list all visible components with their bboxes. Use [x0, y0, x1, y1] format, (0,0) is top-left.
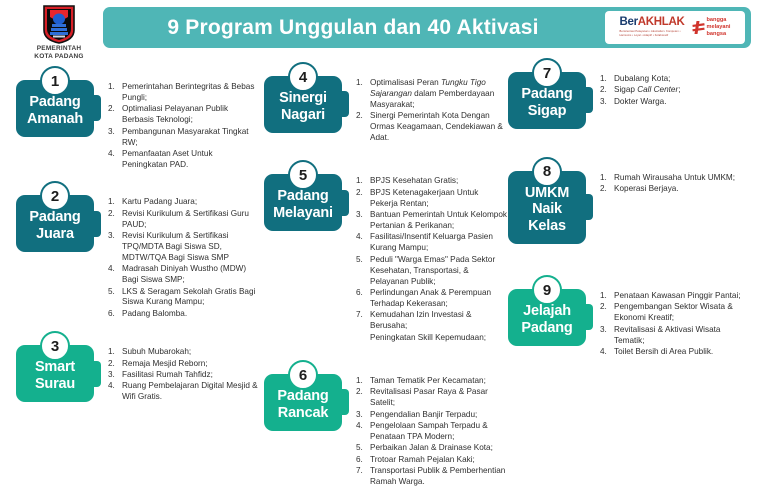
activation-item-text: Madrasah Diniyah Wustho (MDW) Bagi Siswa… — [122, 264, 259, 286]
activation-item-number: 6. — [356, 288, 370, 310]
program-number-badge: 6 — [288, 360, 318, 390]
activation-item-number: 1. — [108, 347, 122, 358]
program-card-title: SinergiNagari — [279, 90, 327, 124]
activation-item-text: Revisi Kurikulum & Sertifikasi Guru PAUD… — [122, 209, 259, 231]
activation-item-number: 6. — [108, 309, 122, 320]
program-number-badge: 9 — [532, 275, 562, 305]
program-title-line: Amanah — [27, 111, 83, 128]
activation-item-number: 2. — [108, 104, 122, 126]
program-card-tab[interactable]: 4SinergiNagari — [264, 76, 342, 133]
activation-item-text: Peningkatan Skill Kepemudaan; — [370, 333, 507, 344]
program-number-badge: 5 — [288, 160, 318, 190]
program-activation-item: 2.Revitalisasi Pasar Raya & Pasar Sateli… — [356, 387, 507, 409]
program-activation-list: 1.Kartu Padang Juara;2.Revisi Kurikulum … — [94, 195, 259, 320]
program-activation-item: 4.Pengelolaan Sampah Terpadu & Penataan … — [356, 421, 507, 443]
program-card-notch — [584, 194, 593, 220]
activation-item-text: Dubalang Kota; — [614, 74, 751, 85]
program-card[interactable]: 8UMKMNaikKelas1.Rumah Wirausaha Untuk UM… — [508, 171, 751, 244]
activation-item-text: Pengelolaan Sampah Terpadu & Penataan TP… — [370, 421, 507, 443]
program-activation-item: 1.Optimalisasi Peran Tungku Tigo Sajaran… — [356, 78, 507, 111]
program-activation-list: 1.Optimalisasi Peran Tungku Tigo Sajaran… — [342, 76, 507, 144]
program-activation-item: 3.Pengendalian Banjir Terpadu; — [356, 410, 507, 421]
activation-item-text: Sigap Call Center; — [614, 85, 751, 96]
activation-item-text: Revitalisasi & Aktivasi Wisata Tematik; — [614, 325, 751, 347]
program-title-line: Sinergi — [279, 90, 327, 107]
program-card-tab[interactable]: 5PadangMelayani — [264, 174, 342, 231]
activation-item-text: Perbaikan Jalan & Drainase Kota; — [370, 443, 507, 454]
program-card-tab[interactable]: 2PadangJuara — [16, 195, 94, 252]
program-activation-item: 6.Perlindungan Anak & Perempuan Terhadap… — [356, 288, 507, 310]
program-title-line: Padang — [521, 86, 572, 103]
activation-item-number — [356, 333, 370, 344]
activation-item-number: 1. — [356, 78, 370, 111]
program-activation-item: 5.Peduli "Warga Emas" Pada Sektor Keseha… — [356, 255, 507, 288]
program-card[interactable]: 1PadangAmanah1.Pemerintahan Berintegrita… — [16, 80, 259, 171]
activation-item-number: 1. — [108, 197, 122, 208]
activation-item-number: 2. — [356, 111, 370, 144]
program-column-1: 1PadangAmanah1.Pemerintahan Berintegrita… — [16, 58, 259, 404]
program-activation-item: 3.Dokter Warga. — [600, 97, 751, 108]
program-title-line: Padang — [277, 388, 328, 405]
program-number-badge: 2 — [40, 181, 70, 211]
activation-item-text: Toilet Bersih di Area Publik. — [614, 347, 751, 358]
bangga-melayani-bangsa-logo: bangga melayani bangsa — [692, 17, 731, 37]
program-card-notch — [92, 361, 101, 387]
activation-item-number: 1. — [600, 173, 614, 184]
program-card-title: PadangRancak — [277, 388, 328, 422]
program-activation-item: 2.Pengembangan Sektor Wisata & Ekonomi K… — [600, 302, 751, 324]
program-activation-item: 1.Rumah Wirausaha Untuk UMKM; — [600, 173, 751, 184]
program-title-line: Kelas — [525, 218, 569, 235]
bangga-melayani-bangsa-text: bangga melayani bangsa — [707, 17, 731, 37]
activation-item-text: Fasilitasi Rumah Tahfidz; — [122, 370, 259, 381]
activation-item-text: Pemerintahan Berintegritas & Bebas Pungl… — [122, 82, 259, 104]
program-activation-list: 1.Penataan Kawasan Pinggir Pantai;2.Peng… — [586, 289, 751, 358]
program-activation-list: 1.Subuh Mubarokah;2.Remaja Mesjid Reborn… — [94, 345, 259, 404]
activation-item-number: 1. — [356, 376, 370, 387]
activation-item-text: Padang Balomba. — [122, 309, 259, 320]
program-card-notch — [340, 91, 349, 117]
program-column-3: 7PadangSigap1.Dubalang Kota;2.Sigap Call… — [508, 58, 751, 359]
activation-item-number: 7. — [356, 310, 370, 332]
program-title-line: Rancak — [277, 405, 328, 422]
program-card-notch — [92, 211, 101, 237]
program-activation-item: 6.Trotoar Ramah Pejalan Kaki; — [356, 455, 507, 466]
activation-item-text: Bantuan Pemerintah Untuk Kelompok Pertan… — [370, 210, 507, 232]
activation-item-number: 1. — [108, 82, 122, 104]
program-activation-list: 1.BPJS Kesehatan Gratis;2.BPJS Ketenagak… — [342, 174, 507, 344]
program-activation-item: 7.Kemudahan Izin Investasi & Berusaha; — [356, 310, 507, 332]
program-card-notch — [340, 190, 349, 216]
activation-item-number: 3. — [356, 410, 370, 421]
program-activation-item: 3.Revisi Kurikulum & Sertifikasi TPQ/MDT… — [108, 231, 259, 264]
title-banner: 9 Program Unggulan dan 40 Aktivasi BerAK… — [103, 7, 751, 48]
activation-item-text: Taman Tematik Per Kecamatan; — [370, 376, 507, 387]
activation-item-text: Remaja Mesjid Reborn; — [122, 359, 259, 370]
government-logo-block: PEMERINTAH KOTA PADANG — [18, 4, 100, 61]
program-activation-item: 4.Toilet Bersih di Area Publik. — [600, 347, 751, 358]
activation-item-number: 4. — [600, 347, 614, 358]
program-activation-item: 3.Revitalisasi & Aktivasi Wisata Tematik… — [600, 325, 751, 347]
activation-item-number: 3. — [600, 325, 614, 347]
activation-item-number: 4. — [108, 264, 122, 286]
program-card-tab[interactable]: 1PadangAmanah — [16, 80, 94, 137]
activation-item-text: Ruang Pembelajaran Digital Mesjid & Wifi… — [122, 381, 259, 403]
program-card[interactable]: 2PadangJuara1.Kartu Padang Juara;2.Revis… — [16, 195, 259, 320]
activation-item-number: 5. — [356, 443, 370, 454]
berakhlak-tagline: Berorientasi Pelayanan • Akuntabel • Kom… — [620, 30, 686, 38]
activation-item-number: 3. — [356, 210, 370, 232]
activation-item-text: Subuh Mubarokah; — [122, 347, 259, 358]
program-card-notch — [340, 389, 349, 415]
program-activation-item: 2.Sinergi Pemerintah Kota Dengan Ormas K… — [356, 111, 507, 144]
program-card-notch — [584, 304, 593, 330]
program-title-line: Smart — [35, 359, 75, 376]
program-card-tab[interactable]: 9JelajahPadang — [508, 289, 586, 346]
berakhlak-logo: BerAKHLAK Berorientasi Pelayanan • Akunt… — [620, 17, 686, 37]
activation-item-number: 5. — [356, 255, 370, 288]
program-title-line: Padang — [29, 209, 80, 226]
activation-item-number: 2. — [600, 302, 614, 324]
activation-item-number: 5. — [108, 287, 122, 309]
program-title-line: Padang — [27, 94, 83, 111]
activation-item-number: 3. — [108, 231, 122, 264]
bangga-line-3: bangsa — [707, 31, 731, 38]
program-title-line: Melayani — [273, 205, 333, 222]
padang-city-crest-icon — [42, 4, 76, 44]
program-activation-item: 7.Transportasi Publik & Pemberhentian Ra… — [356, 466, 507, 488]
activation-item-number: 1. — [356, 176, 370, 187]
program-title-line: Padang — [273, 188, 333, 205]
program-card[interactable]: 3SmartSurau1.Subuh Mubarokah;2.Remaja Me… — [16, 345, 259, 404]
activation-item-text: BPJS Ketenagakerjaan Untuk Pekerja Renta… — [370, 188, 507, 210]
program-activation-item: 4.Madrasah Diniyah Wustho (MDW) Bagi Sis… — [108, 264, 259, 286]
activation-item-text: Transportasi Publik & Pemberhentian Rama… — [370, 466, 507, 488]
program-card-title: PadangMelayani — [273, 188, 333, 222]
program-activation-item: 4.Ruang Pembelajaran Digital Mesjid & Wi… — [108, 381, 259, 403]
program-number-badge: 3 — [40, 331, 70, 361]
program-card[interactable]: 9JelajahPadang1.Penataan Kawasan Pinggir… — [508, 289, 751, 358]
activation-item-number: 2. — [108, 359, 122, 370]
activation-item-number: 6. — [356, 455, 370, 466]
activation-item-text: Kemudahan Izin Investasi & Berusaha; — [370, 310, 507, 332]
program-activation-item: 2.BPJS Ketenagakerjaan Untuk Pekerja Ren… — [356, 188, 507, 210]
program-title-line: Juara — [29, 226, 80, 243]
program-activation-item: 3.Pembangunan Masyarakat Tingkat RW; — [108, 127, 259, 149]
activation-item-text: BPJS Kesehatan Gratis; — [370, 176, 507, 187]
program-number-badge: 8 — [532, 157, 562, 187]
program-title-line: Sigap — [521, 103, 572, 120]
activation-item-text: Revisi Kurikulum & Sertifikasi TPQ/MDTA … — [122, 231, 259, 264]
activation-item-text: Kartu Padang Juara; — [122, 197, 259, 208]
activation-item-text: Perlindungan Anak & Perempuan Terhadap K… — [370, 288, 507, 310]
program-activation-list: 1.Taman Tematik Per Kecamatan;2.Revitali… — [342, 374, 507, 489]
program-activation-item: 1.Taman Tematik Per Kecamatan; — [356, 376, 507, 387]
program-activation-item: 5.LKS & Seragam Sekolah Gratis Bagi Sisw… — [108, 287, 259, 309]
program-activation-item: 3.Bantuan Pemerintah Untuk Kelompok Pert… — [356, 210, 507, 232]
activation-item-text: Optimaliasi Pelayanan Publik Berbasis Te… — [122, 104, 259, 126]
program-activation-item: 6.Padang Balomba. — [108, 309, 259, 320]
activation-item-number: 4. — [356, 232, 370, 254]
activation-item-number: 2. — [356, 387, 370, 409]
activation-item-number: 3. — [108, 370, 122, 381]
activation-item-number: 1. — [600, 74, 614, 85]
program-activation-item: 4.Fasilitasi/Insentif Keluarga Pasien Ku… — [356, 232, 507, 254]
activation-item-number: 2. — [600, 184, 614, 195]
activation-item-number: 3. — [108, 127, 122, 149]
program-title-line: Jelajah — [521, 303, 572, 320]
activation-item-text: Pembangunan Masyarakat Tingkat RW; — [122, 127, 259, 149]
program-card-grid: 1PadangAmanah1.Pemerintahan Berintegrita… — [0, 58, 760, 416]
program-title-line: Nagari — [279, 107, 327, 124]
program-card-title: PadangSigap — [521, 86, 572, 120]
activation-item-text: Dokter Warga. — [614, 97, 751, 108]
activation-item-text: Fasilitasi/Insentif Keluarga Pasien Kura… — [370, 232, 507, 254]
program-title-line: Naik — [525, 201, 569, 218]
program-card-notch — [92, 95, 101, 121]
berakhlak-wordmark: BerAKHLAK — [620, 17, 686, 29]
program-activation-list: 1.Pemerintahan Berintegritas & Bebas Pun… — [94, 80, 259, 171]
program-card-notch — [584, 87, 593, 113]
program-activation-list: 1.Rumah Wirausaha Untuk UMKM;2.Koperasi … — [586, 171, 751, 196]
program-card[interactable]: 5PadangMelayani1.BPJS Kesehatan Gratis;2… — [264, 174, 507, 344]
program-number-badge: 7 — [532, 58, 562, 88]
program-activation-item: 5.Perbaikan Jalan & Drainase Kota; — [356, 443, 507, 454]
page-header: PEMERINTAH KOTA PADANG 9 Program Unggula… — [0, 0, 760, 58]
program-activation-list: 1.Dubalang Kota;2.Sigap Call Center;3.Do… — [586, 72, 751, 108]
program-number-badge: 4 — [288, 62, 318, 92]
activation-item-text: Trotoar Ramah Pejalan Kaki; — [370, 455, 507, 466]
program-activation-item: 1.Pemerintahan Berintegritas & Bebas Pun… — [108, 82, 259, 104]
brand-logo-plate: BerAKHLAK Berorientasi Pelayanan • Akunt… — [605, 11, 745, 44]
bangga-line-2: melayani — [707, 24, 731, 31]
activation-item-text: Peduli "Warga Emas" Pada Sektor Kesehata… — [370, 255, 507, 288]
activation-item-text: Pengembangan Sektor Wisata & Ekonomi Kre… — [614, 302, 751, 324]
logo-caption-line-1: PEMERINTAH — [18, 45, 100, 53]
activation-item-number: 2. — [600, 85, 614, 96]
activation-item-text: Penataan Kawasan Pinggir Pantai; — [614, 291, 751, 302]
program-card-title: SmartSurau — [35, 359, 75, 393]
program-activation-item: 4.Pemanfaatan Aset Untuk Peningkatan PAD… — [108, 149, 259, 171]
program-title-line: Padang — [521, 320, 572, 337]
program-card-title: JelajahPadang — [521, 303, 572, 337]
page-title: 9 Program Unggulan dan 40 Aktivasi — [103, 7, 603, 48]
program-activation-item: 3.Fasilitasi Rumah Tahfidz; — [108, 370, 259, 381]
program-activation-item: 1.Kartu Padang Juara; — [108, 197, 259, 208]
program-activation-item: 2.Optimaliasi Pelayanan Publik Berbasis … — [108, 104, 259, 126]
berakhlak-suffix: AKHLAK — [638, 16, 685, 28]
program-number-badge: 1 — [40, 66, 70, 96]
activation-item-text: Optimalisasi Peran Tungku Tigo Sajaranga… — [370, 78, 507, 111]
program-title-line: Surau — [35, 376, 75, 393]
program-activation-item: 2.Koperasi Berjaya. — [600, 184, 751, 195]
activation-item-text: Sinergi Pemerintah Kota Dengan Ormas Kea… — [370, 111, 507, 144]
activation-item-text: Pemanfaatan Aset Untuk Peningkatan PAD. — [122, 149, 259, 171]
program-card-tab[interactable]: 7PadangSigap — [508, 72, 586, 129]
program-column-2: 4SinergiNagari1.Optimalisasi Peran Tungk… — [264, 58, 507, 489]
program-activation-item: 1.BPJS Kesehatan Gratis; — [356, 176, 507, 187]
program-card[interactable]: 6PadangRancak1.Taman Tematik Per Kecamat… — [264, 374, 507, 489]
bangga-melayani-bangsa-icon — [692, 20, 705, 35]
program-activation-item: 1.Dubalang Kota; — [600, 74, 751, 85]
activation-item-text: LKS & Seragam Sekolah Gratis Bagi Siswa … — [122, 287, 259, 309]
program-card[interactable]: 7PadangSigap1.Dubalang Kota;2.Sigap Call… — [508, 72, 751, 129]
activation-item-number: 7. — [356, 466, 370, 488]
activation-item-number: 2. — [356, 188, 370, 210]
activation-item-text: Rumah Wirausaha Untuk UMKM; — [614, 173, 751, 184]
program-activation-item: 1.Penataan Kawasan Pinggir Pantai; — [600, 291, 751, 302]
program-activation-item: Peningkatan Skill Kepemudaan; — [356, 333, 507, 344]
activation-item-number: 4. — [108, 381, 122, 403]
bangga-line-1: bangga — [707, 17, 731, 24]
program-card-tab[interactable]: 6PadangRancak — [264, 374, 342, 431]
program-card-title: PadangAmanah — [27, 94, 83, 128]
activation-item-number: 3. — [600, 97, 614, 108]
program-activation-item: 1.Subuh Mubarokah; — [108, 347, 259, 358]
activation-item-text: Koperasi Berjaya. — [614, 184, 751, 195]
activation-item-number: 4. — [356, 421, 370, 443]
program-card-tab[interactable]: 8UMKMNaikKelas — [508, 171, 586, 244]
program-card[interactable]: 4SinergiNagari1.Optimalisasi Peran Tungk… — [264, 76, 507, 144]
program-card-title: PadangJuara — [29, 209, 80, 243]
program-title-line: UMKM — [525, 185, 569, 202]
activation-item-number: 1. — [600, 291, 614, 302]
activation-item-text: Pengendalian Banjir Terpadu; — [370, 410, 507, 421]
activation-item-text: Revitalisasi Pasar Raya & Pasar Satelit; — [370, 387, 507, 409]
program-card-title: UMKMNaikKelas — [525, 185, 569, 235]
program-activation-item: 2.Revisi Kurikulum & Sertifikasi Guru PA… — [108, 209, 259, 231]
berakhlak-prefix: Ber — [620, 16, 638, 28]
program-activation-item: 2.Remaja Mesjid Reborn; — [108, 359, 259, 370]
program-activation-item: 2.Sigap Call Center; — [600, 85, 751, 96]
activation-item-number: 2. — [108, 209, 122, 231]
activation-item-number: 4. — [108, 149, 122, 171]
program-card-tab[interactable]: 3SmartSurau — [16, 345, 94, 402]
